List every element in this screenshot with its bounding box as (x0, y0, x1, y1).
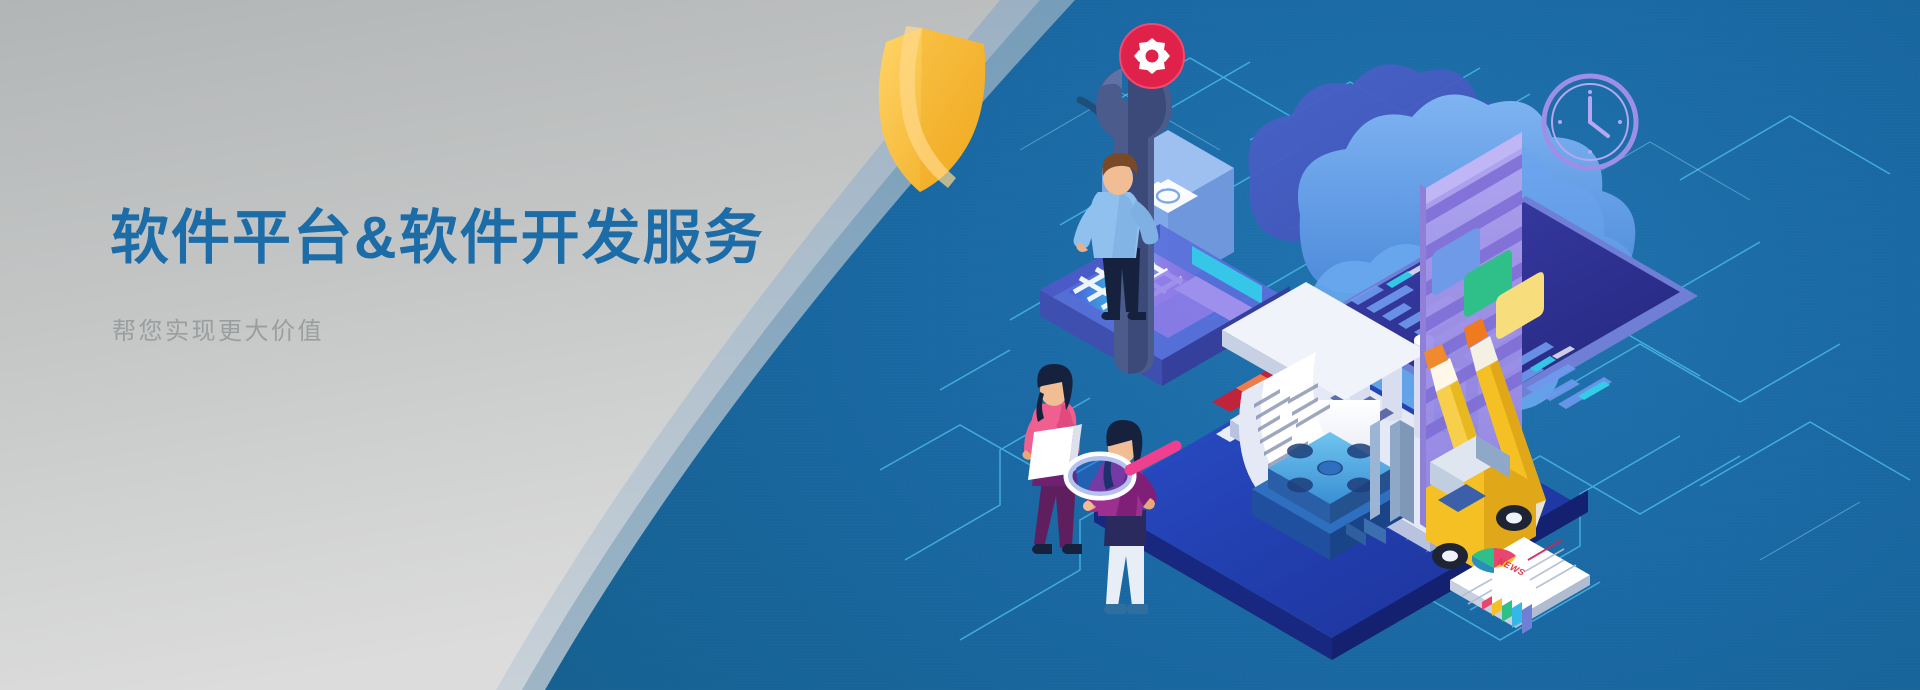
gear-badge-icon (1120, 24, 1184, 88)
shield-icon (879, 26, 985, 192)
person-analyst (1022, 364, 1082, 554)
banner-copy: 软件平台&软件开发服务 帮您实现更大价值 (110, 205, 765, 346)
illustration-isometric-scene (830, 0, 1920, 690)
hero-banner: NEWS 软件平台&软件开发服务 帮您实现更大价值 (0, 0, 1920, 690)
page-title: 软件平台&软件开发服务 (110, 205, 765, 271)
page-subtitle: 帮您实现更大价值 (112, 311, 765, 346)
